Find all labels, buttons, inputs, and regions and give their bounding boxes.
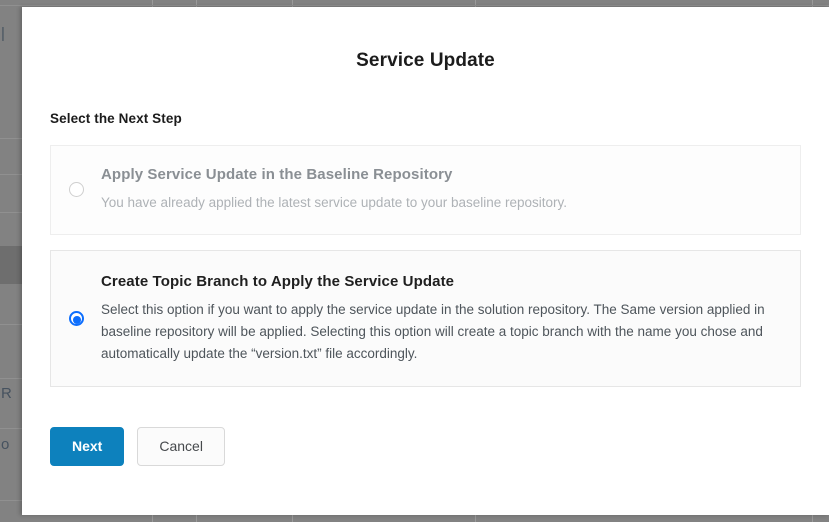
option-list: Apply Service Update in the Baseline Rep…	[45, 145, 806, 387]
option-body: Apply Service Update in the Baseline Rep…	[101, 146, 800, 234]
option-heading: Apply Service Update in the Baseline Rep…	[101, 166, 778, 183]
option-create-topic-branch[interactable]: Create Topic Branch to Apply the Service…	[50, 250, 801, 388]
backdrop-row-highlight	[0, 246, 22, 284]
option-apply-in-baseline-repository[interactable]: Apply Service Update in the Baseline Rep…	[50, 145, 801, 235]
backdrop-text-fragment: |	[1, 26, 5, 41]
dialog-title: Service Update	[22, 7, 829, 72]
section-heading: Select the Next Step	[45, 72, 806, 126]
option-radio-cell[interactable]	[51, 251, 101, 387]
backdrop-grid-line	[0, 5, 829, 6]
cancel-button[interactable]: Cancel	[137, 427, 225, 466]
option-body: Create Topic Branch to Apply the Service…	[101, 251, 800, 387]
dialog-footer: Next Cancel	[45, 387, 806, 466]
backdrop-text-fragment: R	[1, 386, 12, 401]
radio-checked-icon[interactable]	[69, 311, 84, 326]
service-update-dialog: Service Update Select the Next Step Appl…	[22, 7, 829, 515]
next-button[interactable]: Next	[50, 427, 124, 466]
option-heading: Create Topic Branch to Apply the Service…	[101, 273, 778, 290]
backdrop-text-fragment: o	[1, 437, 9, 452]
option-description: Select this option if you want to apply …	[101, 299, 778, 365]
option-radio-cell[interactable]	[51, 146, 101, 234]
radio-unchecked-icon[interactable]	[69, 182, 84, 197]
option-description: You have already applied the latest serv…	[101, 192, 778, 214]
